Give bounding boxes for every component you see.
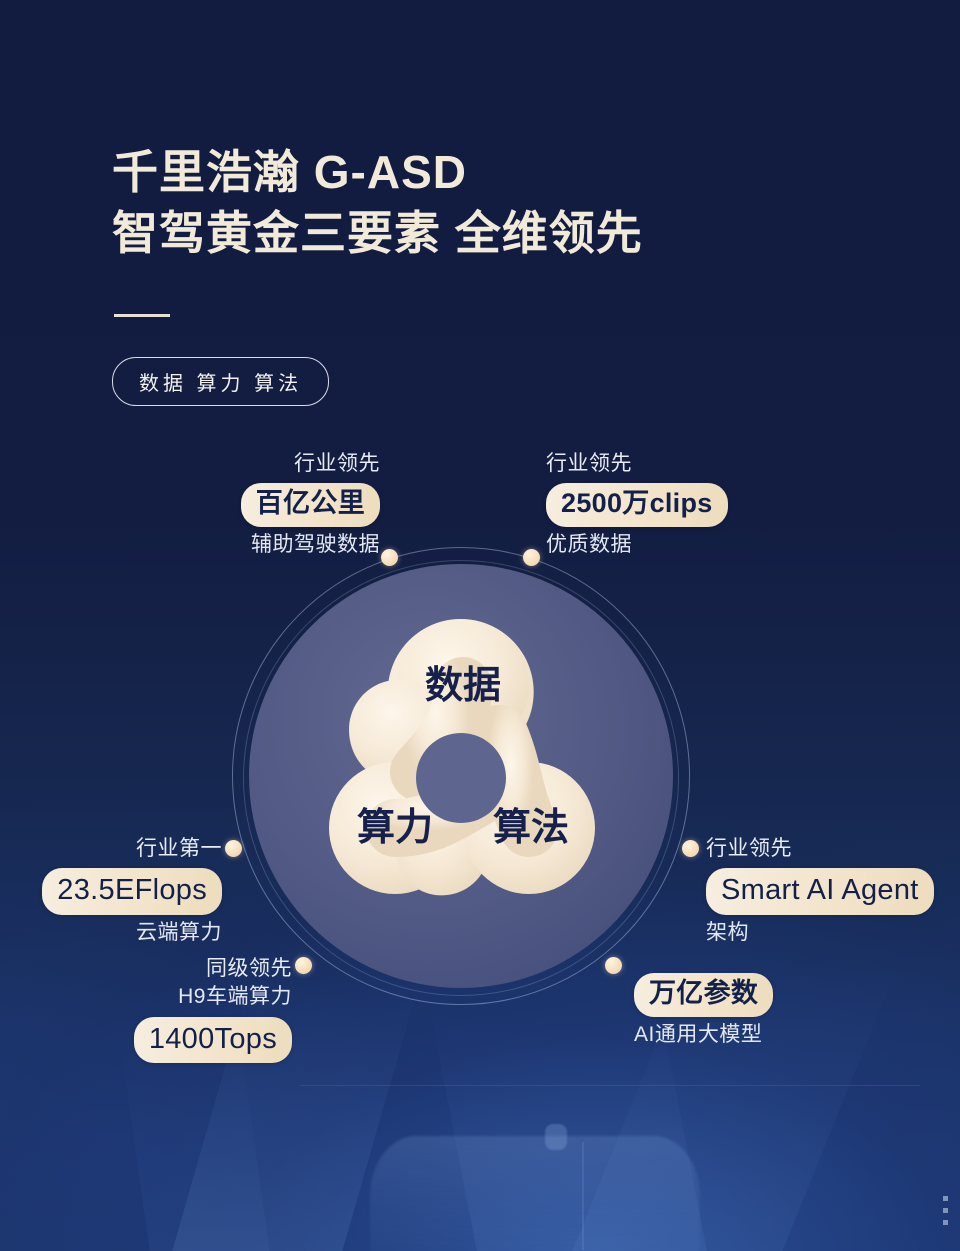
callout-value-pill: 百亿公里	[241, 483, 380, 527]
node-dot-cloud-computing-power	[225, 840, 242, 857]
title-divider	[114, 314, 170, 317]
node-dot-assisted-driving-data	[381, 549, 398, 566]
core-node-label-data: 数据	[425, 665, 501, 707]
callout-value-pill: 23.5EFlops	[42, 868, 222, 914]
subject-pill: 数据 算力 算法	[112, 357, 329, 406]
callout-eyebrow: 行业领先	[546, 450, 846, 478]
callout-eyebrow: 同级领先	[40, 955, 292, 983]
background-beam	[120, 1040, 271, 1251]
callout-eyebrow: 行业领先	[706, 835, 956, 863]
callout-caption: H9车端算力	[40, 983, 292, 1011]
callout-caption: 辅助驾驶数据	[108, 531, 380, 559]
page-title-line-1: 千里浩瀚 G-ASD	[112, 146, 467, 198]
callout-eyebrow: 行业第一	[0, 835, 222, 863]
diagram-inner-disc	[249, 564, 673, 988]
node-dot-ai-foundation-model	[605, 957, 622, 974]
callout-caption: 云端算力	[0, 919, 222, 947]
corner-dots-marker	[943, 1196, 948, 1230]
callout-caption: 优质数据	[546, 531, 846, 559]
car-roof-sensor-pod	[545, 1124, 567, 1150]
callout-caption: 架构	[706, 919, 956, 947]
callout-value-pill: 1400Tops	[134, 1017, 292, 1063]
callout-caption: AI通用大模型	[634, 1021, 894, 1049]
background-horizon-line	[300, 1085, 920, 1086]
page-title: 千里浩瀚 G-ASD 智驾黄金三要素 全维领先	[112, 142, 643, 263]
page-title-line-2: 智驾黄金三要素 全维领先	[112, 203, 643, 264]
node-dot-vehicle-computing-power	[295, 957, 312, 974]
node-dot-high-quality-data	[523, 549, 540, 566]
diagram-outer-ring	[232, 547, 690, 1005]
core-node-label-algorithm: 算法	[493, 807, 569, 849]
callout-value-pill: 2500万clips	[546, 483, 728, 527]
core-node-label-computing: 算力	[357, 807, 433, 849]
diagram-inner-ring	[243, 560, 679, 996]
triskelion-shape: 数据 算力 算法	[291, 606, 631, 946]
callout-assisted-driving-data: 行业领先 百亿公里 辅助驾驶数据	[108, 450, 380, 560]
callout-ai-foundation-model: 万亿参数 AI通用大模型	[634, 968, 894, 1049]
poster-canvas: 千里浩瀚 G-ASD 智驾黄金三要素 全维领先 数据 算力 算法	[0, 0, 960, 1251]
callout-smart-ai-agent: 行业领先 Smart AI Agent 架构	[706, 835, 956, 947]
node-dot-smart-ai-agent	[682, 840, 699, 857]
callout-value-pill: 万亿参数	[634, 973, 773, 1017]
callout-eyebrow: 行业领先	[108, 450, 380, 478]
callout-cloud-computing-power: 行业第一 23.5EFlops 云端算力	[0, 835, 222, 947]
callout-value-pill: Smart AI Agent	[706, 868, 934, 914]
car-body-seam	[582, 1142, 584, 1250]
car-silhouette	[370, 1136, 700, 1251]
callout-high-quality-data: 行业领先 2500万clips 优质数据	[546, 450, 846, 560]
callout-vehicle-computing-power: 同级领先 H9车端算力 1400Tops	[40, 955, 292, 1067]
